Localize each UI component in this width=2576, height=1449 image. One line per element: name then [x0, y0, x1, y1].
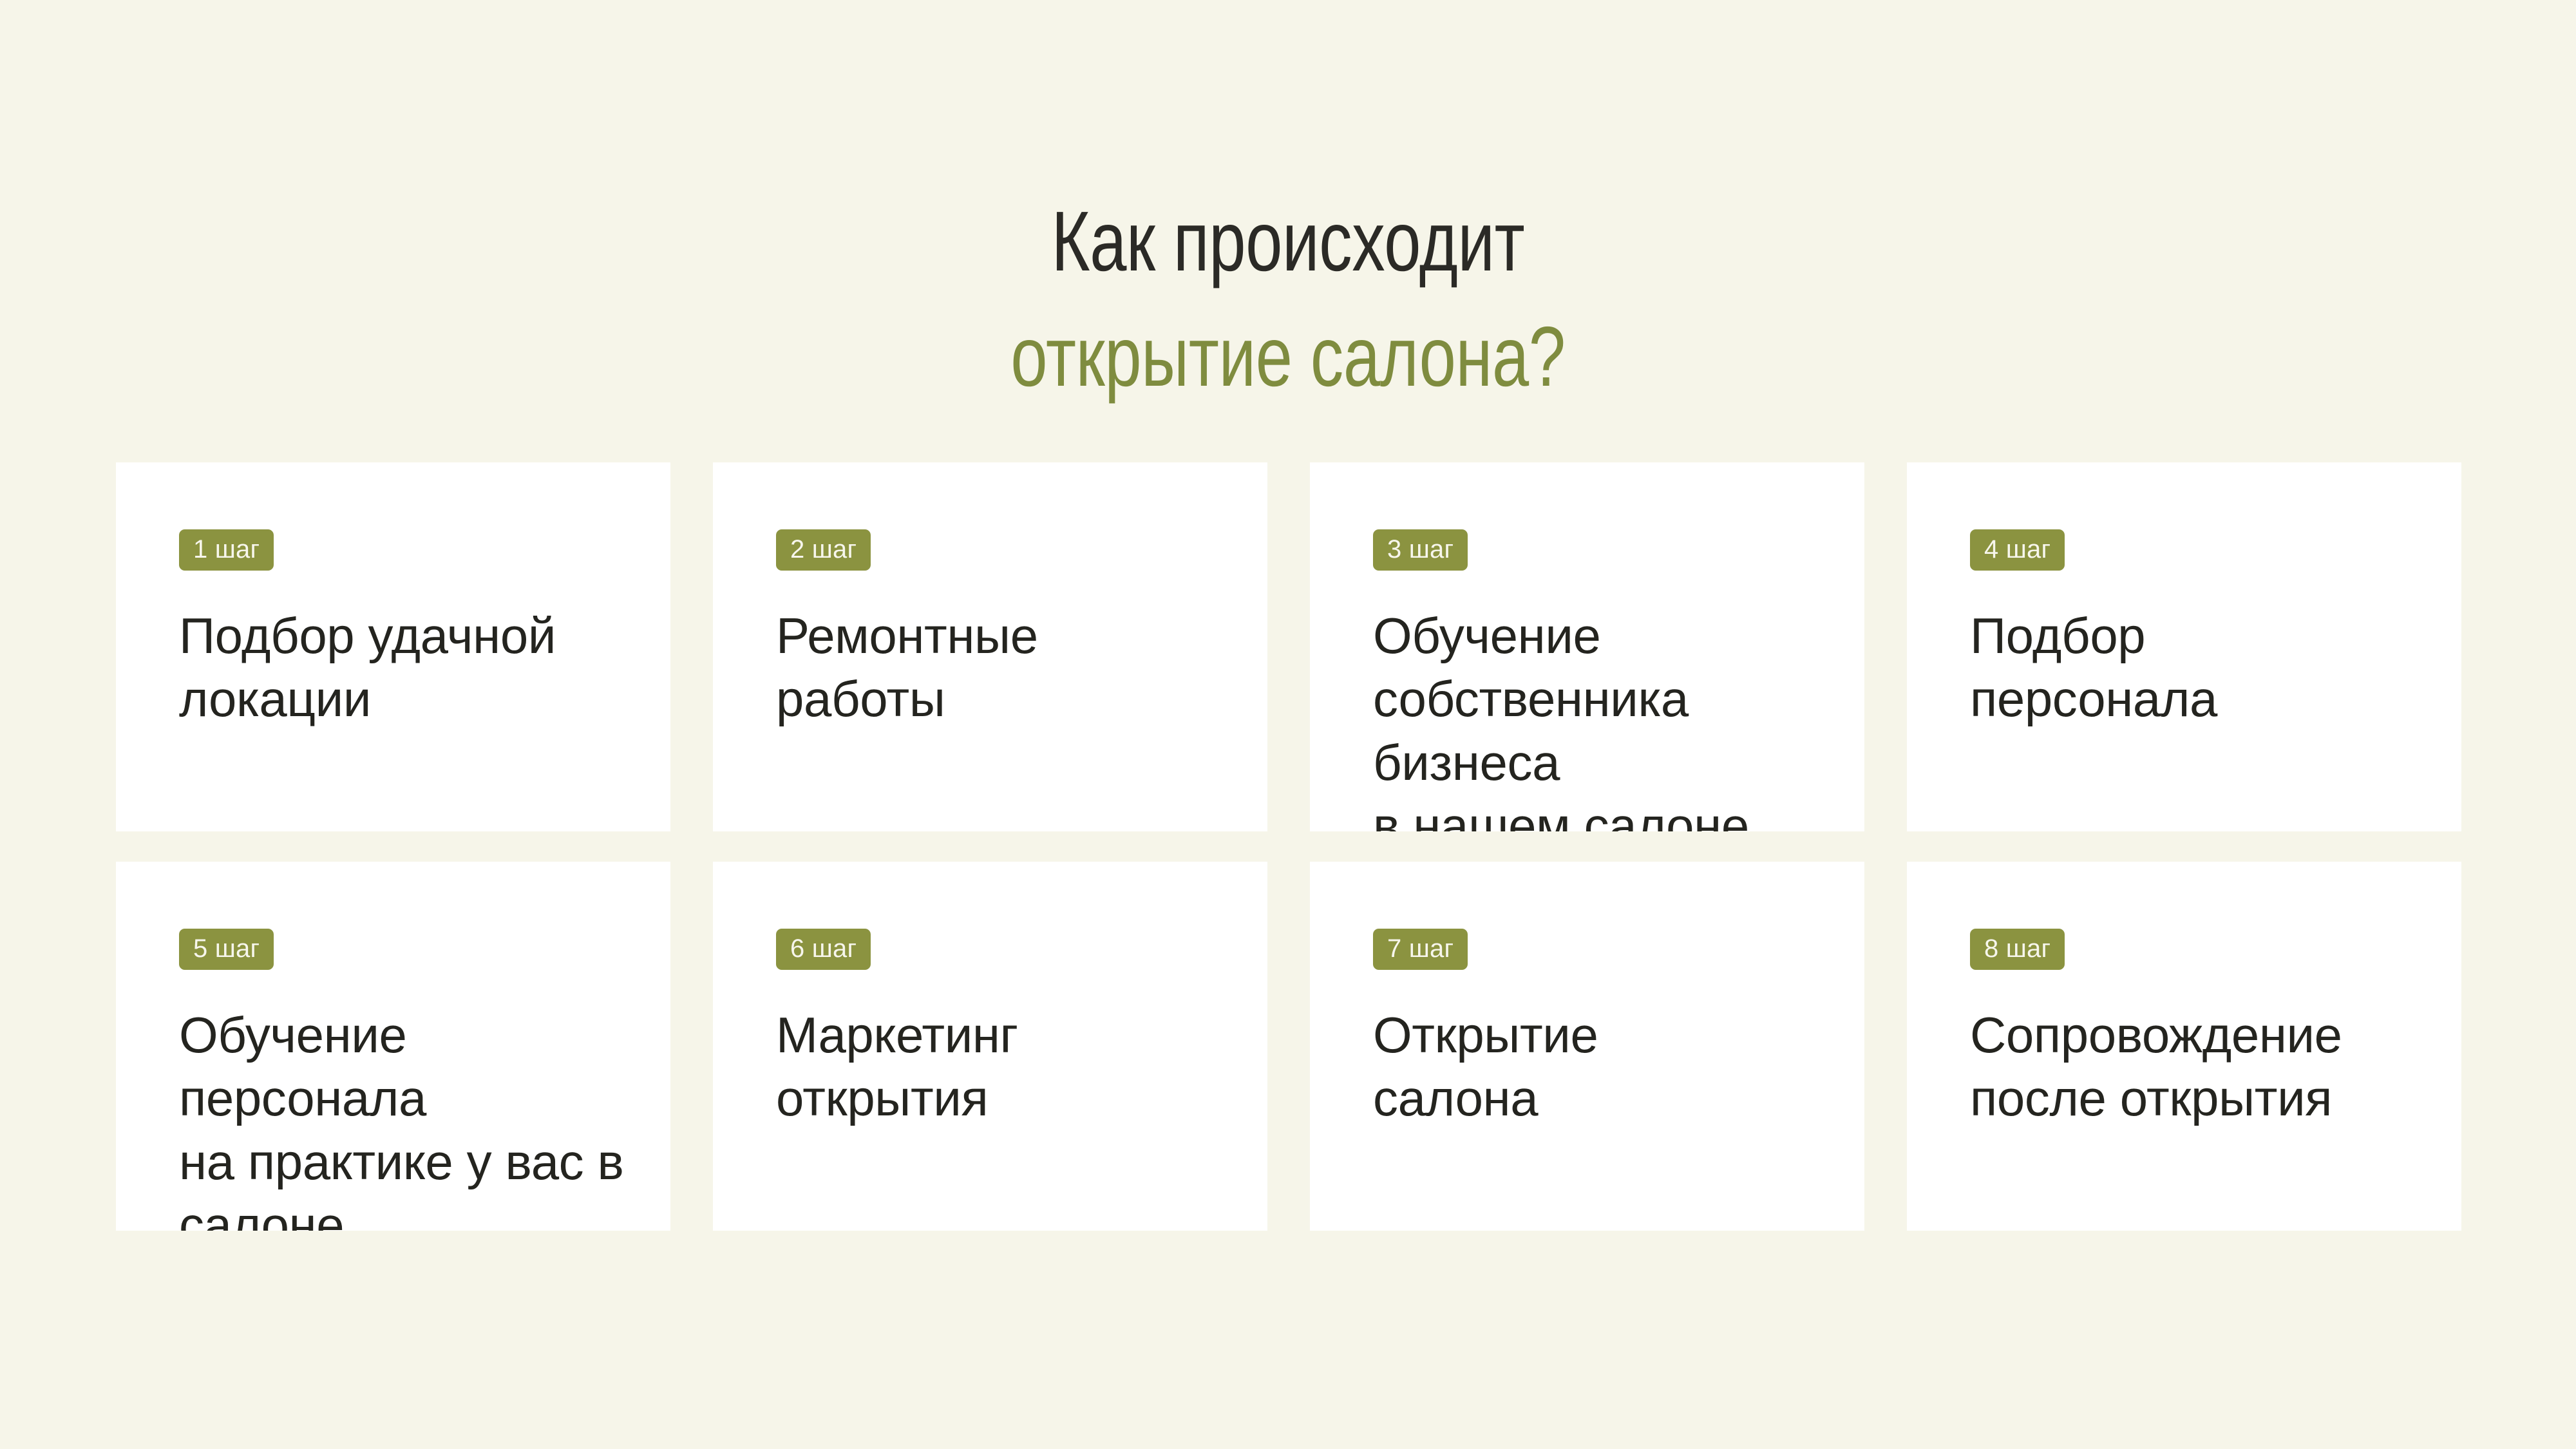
step-badge-2: 2 шаг	[776, 529, 871, 571]
slide-root: Как происходит открытие салона? 1 шаг По…	[0, 0, 2576, 1449]
step-badge-8: 8 шаг	[1970, 929, 2065, 970]
step-badge-7: 7 шаг	[1373, 929, 1468, 970]
step-card-8[interactable]: 8 шаг Сопровождение после открытия	[1907, 862, 2461, 1231]
page-title: Как происходит открытие салона?	[283, 184, 2293, 413]
step-title-4: Подбор персонала	[1970, 604, 2416, 731]
step-card-4[interactable]: 4 шаг Подбор персонала	[1907, 462, 2461, 831]
step-badge-5: 5 шаг	[179, 929, 274, 970]
step-title-7: Открытие салона	[1373, 1003, 1819, 1130]
step-title-5: Обучение персонала на практике у вас в с…	[179, 1003, 625, 1231]
step-title-1: Подбор удачной локации	[179, 604, 625, 731]
step-badge-6: 6 шаг	[776, 929, 871, 970]
step-title-3: Обучение собственника бизнеса в нашем са…	[1373, 604, 1819, 831]
step-title-6: Маркетинг открытия	[776, 1003, 1222, 1130]
step-card-5[interactable]: 5 шаг Обучение персонала на практике у в…	[116, 862, 670, 1231]
step-card-6[interactable]: 6 шаг Маркетинг открытия	[713, 862, 1267, 1231]
steps-grid: 1 шаг Подбор удачной локации 2 шаг Ремон…	[116, 462, 2462, 1231]
page-title-line-2: открытие салона?	[283, 299, 2293, 414]
step-badge-3: 3 шаг	[1373, 529, 1468, 571]
page-title-line-1: Как происходит	[283, 184, 2293, 299]
step-badge-1: 1 шаг	[179, 529, 274, 571]
step-badge-4: 4 шаг	[1970, 529, 2065, 571]
step-title-8: Сопровождение после открытия	[1970, 1003, 2416, 1130]
step-card-7[interactable]: 7 шаг Открытие салона	[1310, 862, 1864, 1231]
step-card-1[interactable]: 1 шаг Подбор удачной локации	[116, 462, 670, 831]
step-card-2[interactable]: 2 шаг Ремонтные работы	[713, 462, 1267, 831]
step-card-3[interactable]: 3 шаг Обучение собственника бизнеса в на…	[1310, 462, 1864, 831]
step-title-2: Ремонтные работы	[776, 604, 1222, 731]
